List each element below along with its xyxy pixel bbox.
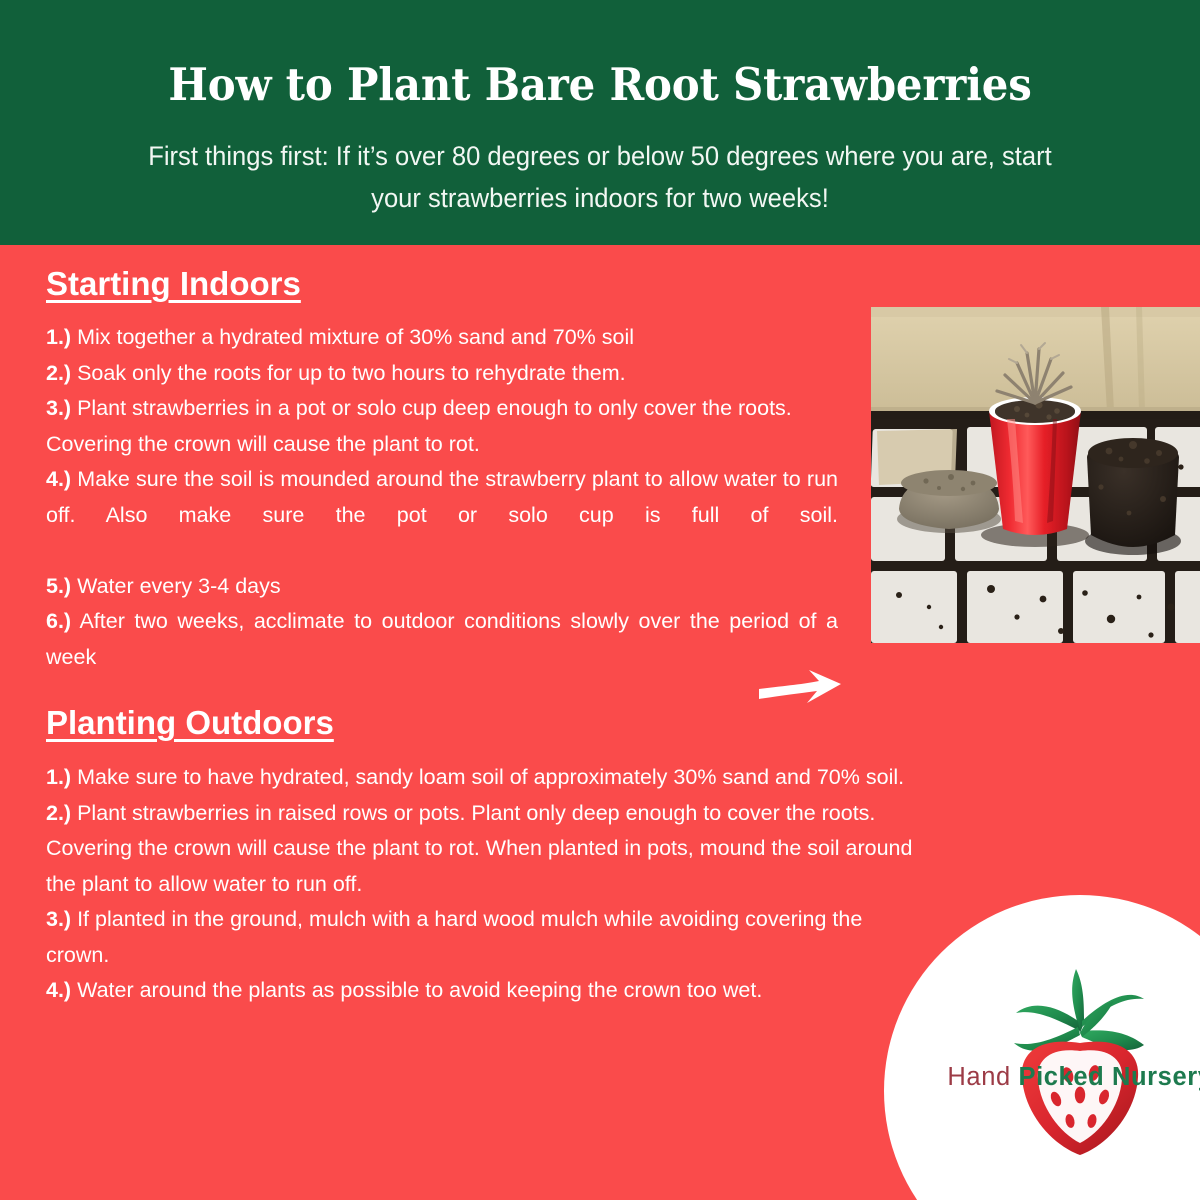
step-text: After two weeks, acclimate to outdoor co… bbox=[46, 609, 838, 669]
step-number: 4.) bbox=[46, 978, 71, 1002]
step-text: If planted in the ground, mulch with a h… bbox=[46, 907, 862, 967]
step-number: 1.) bbox=[46, 765, 71, 789]
strawberry-logo-icon bbox=[980, 947, 1180, 1162]
step-number: 6.) bbox=[46, 609, 71, 633]
brand-name: Hand Picked Nursery bbox=[884, 1063, 1200, 1092]
brand-name-first: Hand bbox=[947, 1063, 1018, 1091]
step-text: Plant strawberries in raised rows or pot… bbox=[46, 801, 912, 896]
list-item: 1.) Mix together a hydrated mixture of 3… bbox=[46, 320, 838, 356]
step-text: Mix together a hydrated mixture of 30% s… bbox=[77, 325, 634, 349]
infographic-poster: How to Plant Bare Root Strawberries Firs… bbox=[0, 0, 1200, 1200]
step-text: Soak only the roots for up to two hours … bbox=[77, 361, 626, 385]
steps-list-planting-outdoors: 1.) Make sure to have hydrated, sandy lo… bbox=[46, 760, 930, 1009]
list-item: 3.) If planted in the ground, mulch with… bbox=[46, 902, 930, 973]
header-subtitle: First things first: If it’s over 80 degr… bbox=[146, 107, 1053, 219]
step-text: Water every 3-4 days bbox=[77, 574, 281, 598]
step-text: Make sure the soil is mounded around the… bbox=[46, 467, 838, 527]
step-number: 2.) bbox=[46, 361, 71, 385]
step-number: 3.) bbox=[46, 396, 71, 420]
step-text: Water around the plants as possible to a… bbox=[77, 978, 762, 1002]
section-heading-planting-outdoors: Planting Outdoors bbox=[46, 704, 334, 742]
brand-name-rest: Picked Nursery bbox=[1018, 1063, 1200, 1091]
list-item: 1.) Make sure to have hydrated, sandy lo… bbox=[46, 760, 930, 796]
step-number: 3.) bbox=[46, 907, 71, 931]
step-text: Make sure to have hydrated, sandy loam s… bbox=[77, 765, 904, 789]
header-banner: How to Plant Bare Root Strawberries Firs… bbox=[0, 0, 1200, 245]
arrow-right-icon bbox=[757, 663, 843, 707]
brand-logo[interactable]: Hand Picked Nursery bbox=[884, 895, 1200, 1200]
photo-strawberry-in-solo-cup bbox=[871, 307, 1200, 643]
list-item: 4.) Water around the plants as possible … bbox=[46, 973, 930, 1009]
list-item: 3.) Plant strawberries in a pot or solo … bbox=[46, 391, 838, 462]
page-title: How to Plant Bare Root Strawberries bbox=[42, 0, 1158, 107]
steps-list-starting-indoors: 1.) Mix together a hydrated mixture of 3… bbox=[46, 320, 838, 711]
list-item: 4.) Make sure the soil is mounded around… bbox=[46, 462, 838, 569]
step-number: 4.) bbox=[46, 467, 71, 491]
step-number: 5.) bbox=[46, 574, 71, 598]
list-item: 6.) After two weeks, acclimate to outdoo… bbox=[46, 604, 838, 711]
list-item: 5.) Water every 3-4 days bbox=[46, 569, 838, 605]
step-number: 2.) bbox=[46, 801, 71, 825]
step-text: Plant strawberries in a pot or solo cup … bbox=[46, 396, 792, 456]
list-item: 2.) Plant strawberries in raised rows or… bbox=[46, 796, 930, 903]
list-item: 2.) Soak only the roots for up to two ho… bbox=[46, 356, 838, 392]
section-heading-starting-indoors: Starting Indoors bbox=[46, 265, 301, 303]
step-number: 1.) bbox=[46, 325, 71, 349]
